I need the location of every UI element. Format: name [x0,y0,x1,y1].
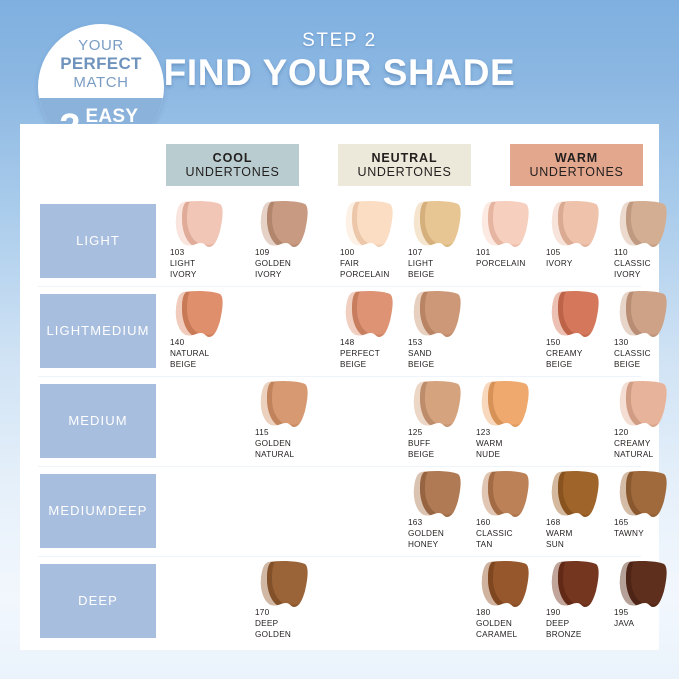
shade-label-line: DEEP [255,619,339,630]
foundation-swatch-icon [408,380,466,432]
badge-line-perfect: PERFECT [38,54,164,74]
shade-label-line: IVORY [170,270,254,281]
row-divider [38,466,641,467]
undertone-header-cool: COOL UNDERTONES [166,144,299,186]
depth-level-chip: LIGHTMEDIUM [40,294,156,368]
undertone-sublabel: UNDERTONES [529,165,623,179]
shade-swatch-cell[interactable]: 109GOLDENIVORY [251,200,337,284]
shade-label: 130CLASSICBEIGE [614,338,679,370]
shade-label-line: LIGHT [170,259,254,270]
shade-label-line: BEIGE [170,360,254,371]
depth-level-label: LIGHT [76,234,120,249]
shade-label-line: 109 [255,248,339,259]
depth-level-label: DEEP [108,504,148,519]
badge-line-match: MATCH [38,74,164,91]
foundation-swatch-icon [614,200,672,252]
foundation-swatch-icon [408,470,466,522]
shade-label: 123WARMNUDE [476,428,560,460]
foundation-swatch-icon [170,200,228,252]
foundation-swatch-icon [614,380,672,432]
shade-label-line: GOLDEN [255,439,339,450]
undertone-header-row: COOL UNDERTONES NEUTRAL UNDERTONES WARM … [20,144,659,186]
shade-label-line: 170 [255,608,339,619]
shade-label: 195JAVA [614,608,679,630]
shade-label-line: CLASSIC [614,259,679,270]
shade-label-line: WARM [476,439,560,450]
shade-swatch-cell[interactable]: 140NATURALBEIGE [166,290,252,374]
foundation-swatch-icon [614,560,672,612]
shade-label-line: 123 [476,428,560,439]
shade-label-line: 115 [255,428,339,439]
foundation-swatch-icon [476,560,534,612]
shade-label-line: NATURAL [255,450,339,461]
depth-level-chip: MEDIUM [40,384,156,458]
undertone-name: COOL [213,151,253,165]
foundation-swatch-icon [614,470,672,522]
undertone-sublabel: UNDERTONES [185,165,279,179]
shade-row: LIGHT 103LIGHTIVORY 109GOLDENIVORY 100FA… [20,196,659,286]
row-divider [38,286,641,287]
shade-label-line: BEIGE [614,360,679,371]
foundation-swatch-icon [476,380,534,432]
foundation-swatch-icon [340,200,398,252]
badge-line-your: YOUR [38,37,164,54]
depth-level-label: LIGHT [46,324,90,339]
foundation-swatch-icon [546,560,604,612]
shade-label-line: 195 [614,608,679,619]
shade-swatch-cell[interactable]: 123WARMNUDE [472,380,558,464]
shade-label-line: NATURAL [614,450,679,461]
shade-label-line: 103 [170,248,254,259]
shade-label-line: NUDE [476,450,560,461]
shade-label: 140NATURALBEIGE [170,338,254,370]
shade-label-line: CREAMY [614,439,679,450]
shade-label: 103LIGHTIVORY [170,248,254,280]
depth-level-chip: DEEP [40,564,156,638]
foundation-swatch-icon [170,290,228,342]
shade-label-line: 140 [170,338,254,349]
foundation-swatch-icon [408,290,466,342]
undertone-sublabel: UNDERTONES [357,165,451,179]
shade-label-line: 153 [408,338,492,349]
shade-swatch-cell[interactable]: 115GOLDENNATURAL [251,380,337,464]
shade-label-line: SAND [408,349,492,360]
shade-row: MEDIUM 115GOLDENNATURAL 125BUFFBEIGE 123… [20,376,659,466]
shade-label-line: GOLDEN [255,630,339,641]
depth-level-chip: MEDIUMDEEP [40,474,156,548]
badge-top-text: YOUR PERFECT MATCH [38,37,164,92]
foundation-swatch-icon [546,470,604,522]
shade-label-line: JAVA [614,619,679,630]
depth-level-label: MEDIUM [48,504,107,519]
depth-level-chip: LIGHT [40,204,156,278]
shade-label: 153SANDBEIGE [408,338,492,370]
shade-label-line: NATURAL [170,349,254,360]
shade-swatch-cell[interactable]: 170DEEPGOLDEN [251,560,337,644]
shade-swatch-cell[interactable]: 130CLASSICBEIGE [610,290,679,374]
shade-chart-card: COOL UNDERTONES NEUTRAL UNDERTONES WARM … [20,124,659,650]
shade-label-line: 110 [614,248,679,259]
shade-swatch-cell[interactable]: 165TAWNY [610,470,679,554]
row-divider [38,556,641,557]
shade-swatch-cell[interactable]: 153SANDBEIGE [404,290,490,374]
shade-row: DEEP 170DEEPGOLDEN 180GOLDENCARAMEL 190D… [20,556,659,646]
shade-label-line: TAWNY [614,529,679,540]
row-divider [38,376,641,377]
shade-label-line: GOLDEN [255,259,339,270]
foundation-swatch-icon [255,380,313,432]
foundation-swatch-icon [476,200,534,252]
foundation-swatch-icon [340,290,398,342]
shade-swatch-cell[interactable]: 195JAVA [610,560,679,644]
shade-label: 115GOLDENNATURAL [255,428,339,460]
shade-label: 110CLASSICIVORY [614,248,679,280]
foundation-swatch-icon [546,290,604,342]
shade-row: LIGHTMEDIUM 140NATURALBEIGE 148PERFECTBE… [20,286,659,376]
shade-swatch-cell[interactable]: 103LIGHTIVORY [166,200,252,284]
shade-swatch-cell[interactable]: 120CREAMYNATURAL [610,380,679,464]
shade-swatch-cell[interactable]: 110CLASSICIVORY [610,200,679,284]
shade-label-line: 165 [614,518,679,529]
foundation-swatch-icon [546,200,604,252]
foundation-swatch-icon [255,560,313,612]
foundation-swatch-icon [255,200,313,252]
undertone-name: WARM [555,151,598,165]
shade-row: MEDIUMDEEP 163GOLDENHONEY 160CLASSICTAN … [20,466,659,556]
shade-label: 170DEEPGOLDEN [255,608,339,640]
shade-label-line: IVORY [255,270,339,281]
depth-level-label: MEDIUM [90,324,149,339]
shade-label-line: BEIGE [408,360,492,371]
shade-label: 165TAWNY [614,518,679,540]
depth-level-label: DEEP [78,594,118,609]
depth-level-label: MEDIUM [68,414,127,429]
undertone-header-warm: WARM UNDERTONES [510,144,643,186]
undertone-header-neutral: NEUTRAL UNDERTONES [338,144,471,186]
shade-label-line: IVORY [614,270,679,281]
foundation-swatch-icon [614,290,672,342]
shade-label-line: 120 [614,428,679,439]
undertone-name: NEUTRAL [371,151,437,165]
foundation-swatch-icon [408,200,466,252]
shade-label-line: 130 [614,338,679,349]
shade-label-line: CLASSIC [614,349,679,360]
foundation-swatch-icon [476,470,534,522]
shade-label: 120CREAMYNATURAL [614,428,679,460]
shade-label: 109GOLDENIVORY [255,248,339,280]
